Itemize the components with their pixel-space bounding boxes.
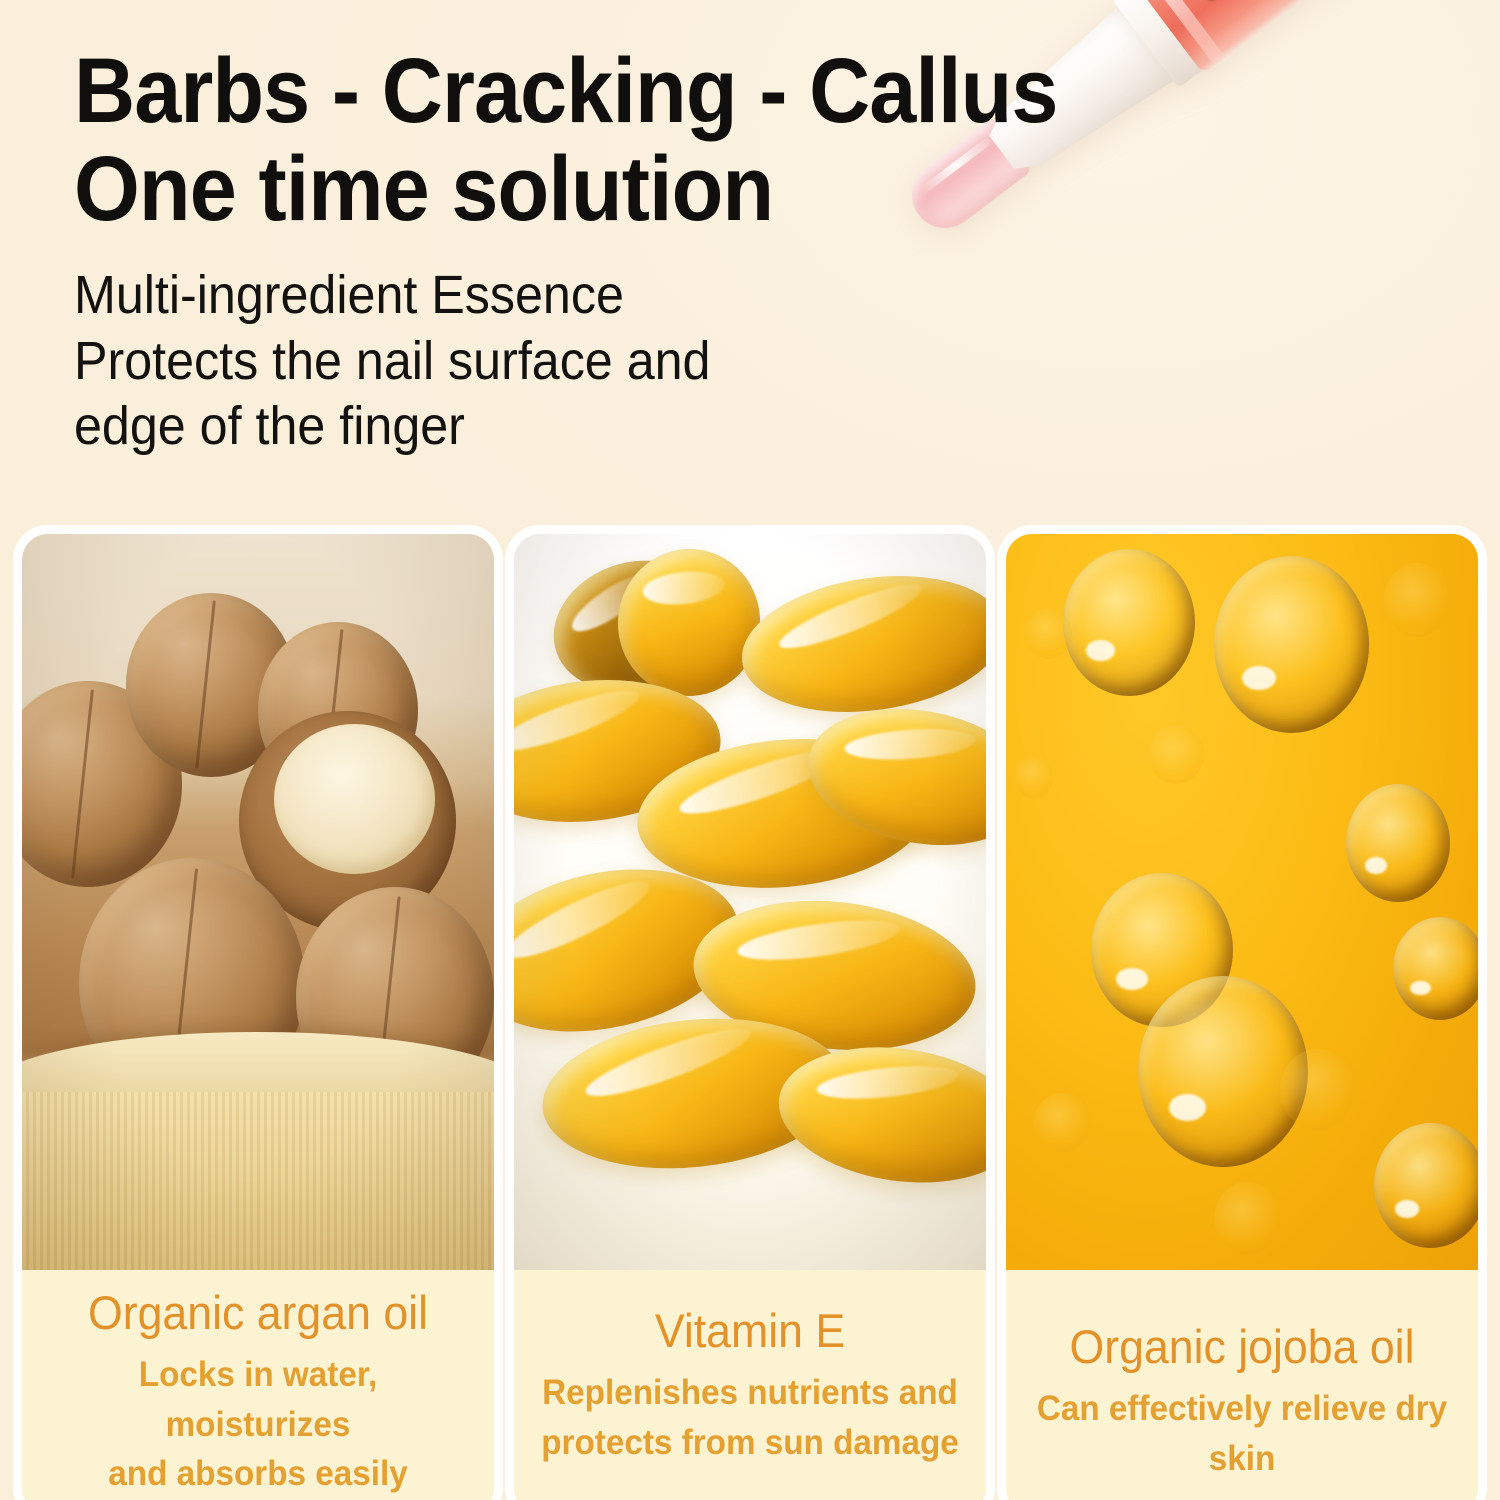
capsules-photo-canvas: [514, 534, 986, 1270]
subhead-line-3: edge of the finger: [74, 394, 1060, 459]
oil-bubble: [1025, 608, 1072, 660]
golden-gel-capsules-photo: [514, 534, 986, 1270]
oil-bubble: [1384, 563, 1450, 637]
nuts-photo-canvas: [22, 534, 494, 1270]
headline-line-1: Barbs - Cracking - Callus: [74, 44, 1049, 140]
card-description-vitamin-e: Replenishes nutrients and protects from …: [537, 1368, 963, 1467]
oil-bubble: [1214, 1182, 1280, 1256]
pen-coral-barrel: [1132, 0, 1500, 74]
photo-vignette: [514, 534, 986, 1270]
card-caption-argan: Organic argan oil Locks in water, moistu…: [22, 1270, 494, 1500]
oil-bubble: [1346, 784, 1450, 902]
oil-bubble: [1015, 755, 1053, 799]
card-title-vitamin-e: Vitamin E: [537, 1304, 963, 1358]
subhead-line-1: Multi-ingredient Essence: [74, 263, 1060, 328]
photo-vignette: [22, 534, 494, 1270]
oil-bubble: [1148, 725, 1205, 784]
macadamia-nuts-in-wooden-bowl-photo: [22, 534, 494, 1270]
card-description-argan: Locks in water, moisturizes and absorbs …: [45, 1350, 471, 1500]
headline-line-2: One time solution: [74, 142, 1049, 238]
oil-bubble: [1034, 1093, 1091, 1152]
oil-photo-canvas: [1006, 534, 1478, 1270]
card-caption-jojoba: Organic jojoba oil Can effectively relie…: [1006, 1270, 1478, 1500]
pen-barrel-label-text: and vitamin pen and nail essence beauty …: [1175, 0, 1499, 37]
ingredient-card-argan: Organic argan oil Locks in water, moistu…: [22, 534, 494, 1500]
oil-bubble: [1063, 549, 1195, 696]
ingredient-cards-row: Organic argan oil Locks in water, moistu…: [22, 534, 1478, 1500]
card-description-jojoba: Can effectively relieve dry skin: [1029, 1384, 1455, 1483]
pen-barrel-ring: [1144, 0, 1226, 66]
ingredient-card-vitamin-e: Vitamin E Replenishes nutrients and prot…: [514, 534, 986, 1500]
header-text-block: Barbs - Cracking - Callus One time solut…: [74, 44, 1134, 459]
card-title-argan: Organic argan oil: [45, 1286, 471, 1340]
oil-bubble: [1214, 556, 1370, 733]
golden-oil-bubbles-photo: [1006, 534, 1478, 1270]
card-caption-vitamin-e: Vitamin E Replenishes nutrients and prot…: [514, 1270, 986, 1500]
oil-bubble: [1280, 1049, 1356, 1130]
oil-bubble: [1393, 917, 1478, 1020]
ingredient-card-jojoba: Organic jojoba oil Can effectively relie…: [1006, 534, 1478, 1500]
subhead-line-2: Protects the nail surface and: [74, 329, 1060, 394]
oil-bubble: [1374, 1123, 1478, 1248]
product-infographic-poster: Barbs - Cracking - Callus One time solut…: [0, 0, 1500, 1500]
card-title-jojoba: Organic jojoba oil: [1029, 1320, 1455, 1374]
